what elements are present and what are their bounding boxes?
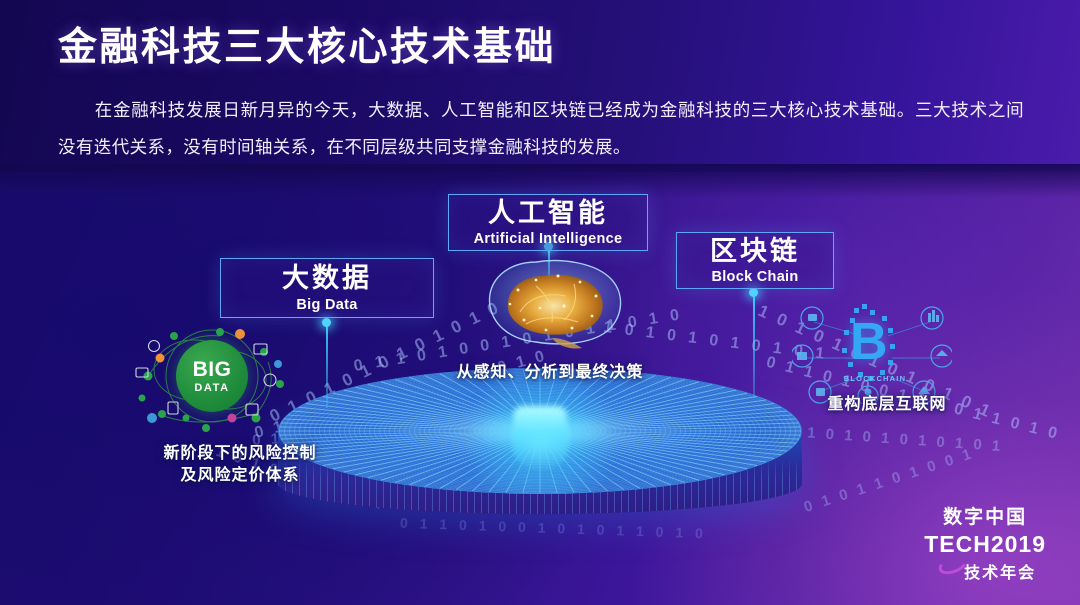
card-big-data-title-cn: 大数据	[282, 263, 372, 293]
card-big-data[interactable]: 大数据 Big Data	[220, 258, 434, 318]
stem-dot-blockchain	[749, 288, 758, 297]
caption-blockchain: 重构底层互联网	[796, 394, 978, 416]
big-data-badge-line1: BIG	[193, 359, 232, 380]
card-block-chain[interactable]: 区块链 Block Chain	[676, 232, 834, 289]
blockchain-letter-b: B	[850, 314, 898, 372]
event-logo: 数字中国 TECH2019 技术年会	[924, 502, 1046, 583]
big-data-badge: BIG DATA	[176, 340, 248, 412]
stem-blockchain	[753, 292, 755, 398]
card-blockchain-title-en: Block Chain	[711, 269, 798, 285]
intro-paragraph: 在金融科技发展日新月异的今天，大数据、人工智能和区块链已经成为金融科技的三大核心…	[58, 92, 1024, 166]
big-data-graphic: BIG DATA	[128, 318, 296, 434]
slide-canvas: 0 1 0 1 0 1 0 1 0 1 0 1 0 0 1 1 0 1 0 0 …	[0, 0, 1080, 605]
binary-digits-right-lower: 1 0 1 0 1 0 1 0 1 0 1 0 1	[770, 422, 1004, 455]
logo-line-tech2019: TECH2019	[924, 531, 1046, 558]
brain-illustration	[474, 250, 634, 354]
caption-big-data: 新阶段下的风险控制 及风险定价体系	[104, 443, 376, 487]
caption-big-data-line1: 新阶段下的风险控制	[104, 443, 376, 465]
stem-dot-big-data	[322, 318, 331, 327]
card-blockchain-title-cn: 区块链	[710, 236, 800, 266]
big-data-badge-line2: DATA	[194, 383, 229, 394]
card-ai-title-en: Artificial Intelligence	[474, 231, 623, 247]
card-ai-title-cn: 人工智能	[488, 198, 608, 228]
page-title: 金融科技三大核心技术基础	[58, 16, 556, 72]
caption-ai: 从感知、分析到最终决策	[430, 362, 670, 384]
logo-line-digital-china: 数字中国	[924, 502, 1046, 529]
blockchain-graphic: B BLOCKCHAIN	[792, 300, 952, 404]
card-artificial-intelligence[interactable]: 人工智能 Artificial Intelligence	[448, 194, 648, 251]
brain-graphic	[474, 250, 634, 354]
caption-big-data-line2: 及风险定价体系	[104, 465, 376, 487]
card-big-data-title-en: Big Data	[296, 297, 357, 313]
blockchain-wordmark: BLOCKCHAIN	[836, 374, 914, 383]
disc-core	[513, 406, 567, 466]
stem-big-data	[326, 322, 328, 408]
